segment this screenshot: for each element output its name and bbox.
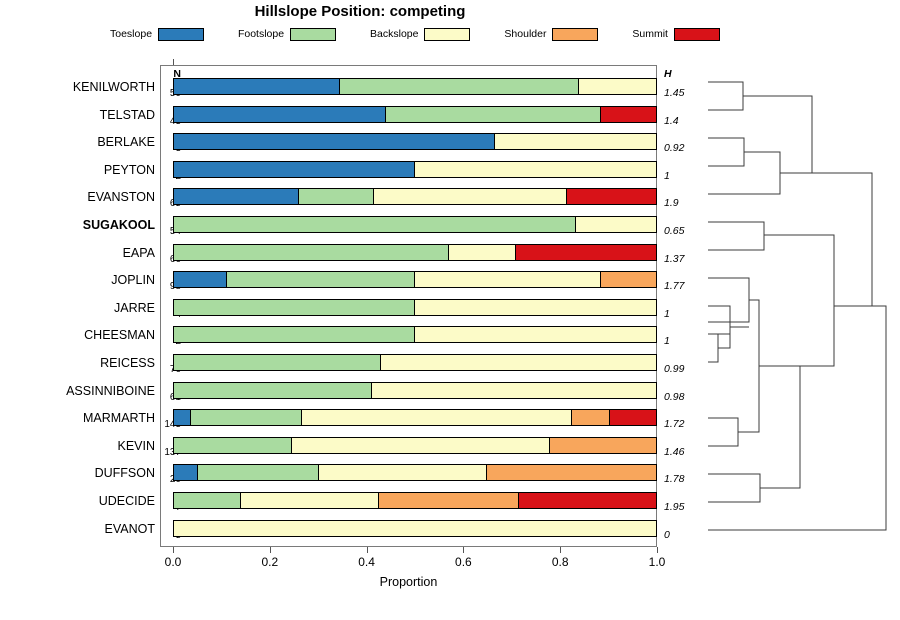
bar-segment-backslope[interactable]: [495, 134, 656, 149]
bar-segment-toeslope[interactable]: [174, 189, 299, 204]
bar-segment-shoulder[interactable]: [572, 410, 611, 425]
x-axis-title: Proportion: [160, 575, 657, 589]
legend-label: Shoulder: [504, 28, 546, 40]
y-axis-label: ASSINNIBOINE: [0, 385, 155, 398]
stacked-bar[interactable]: [173, 437, 657, 454]
y-axis-label: DUFFSON: [0, 467, 155, 480]
bar-segment-backslope[interactable]: [241, 493, 378, 508]
y-axis-label: JOPLIN: [0, 274, 155, 287]
bar-segment-footslope[interactable]: [174, 383, 372, 398]
x-axis-tick: [270, 547, 271, 553]
legend-label: Footslope: [238, 28, 284, 40]
stacked-bar[interactable]: [173, 326, 657, 343]
legend-label: Toeslope: [110, 28, 152, 40]
bar-segment-backslope[interactable]: [292, 438, 550, 453]
y-axis-label: BERLAKE: [0, 136, 155, 149]
stacked-bar[interactable]: [173, 106, 657, 123]
h-column-header: H: [664, 68, 672, 80]
legend-label: Backslope: [370, 28, 418, 40]
bar-segment-footslope[interactable]: [174, 438, 292, 453]
bar-segment-toeslope[interactable]: [174, 272, 227, 287]
bar-segment-backslope[interactable]: [302, 410, 572, 425]
legend-item-footslope: Footslope: [238, 28, 336, 41]
legend-item-toeslope: Toeslope: [110, 28, 204, 41]
y-axis-label: EVANSTON: [0, 191, 155, 204]
bar-segment-backslope[interactable]: [372, 383, 656, 398]
stacked-bar[interactable]: [173, 382, 657, 399]
dendrogram: [700, 60, 895, 555]
y-axis-label: SUGAKOOL: [0, 219, 155, 232]
chart-title: Hillslope Position: competing: [0, 3, 720, 20]
stacked-bar[interactable]: [173, 216, 657, 233]
x-axis-tick: [657, 547, 658, 553]
bar-segment-toeslope[interactable]: [174, 410, 191, 425]
bar-segment-backslope[interactable]: [415, 300, 656, 315]
legend-item-shoulder: Shoulder: [504, 28, 598, 41]
legend-item-summit: Summit: [632, 28, 720, 41]
stacked-bar[interactable]: [173, 244, 657, 261]
legend-swatch-shoulder: [552, 28, 598, 41]
bar-segment-backslope[interactable]: [381, 355, 656, 370]
y-axis-label: TELSTAD: [0, 109, 155, 122]
bar-segment-backslope[interactable]: [174, 521, 656, 536]
y-axis-label: JARRE: [0, 302, 155, 315]
bar-segment-backslope[interactable]: [449, 245, 516, 260]
bar-segment-backslope[interactable]: [374, 189, 567, 204]
y-axis-label: KEVIN: [0, 440, 155, 453]
bar-segment-backslope[interactable]: [576, 217, 656, 232]
stacked-bar[interactable]: [173, 188, 657, 205]
bar-segment-summit[interactable]: [516, 245, 656, 260]
bar-segment-backslope[interactable]: [415, 327, 656, 342]
x-axis-tick-label: 0.2: [250, 555, 290, 569]
bar-segment-toeslope[interactable]: [174, 465, 198, 480]
stacked-bar[interactable]: [173, 409, 657, 426]
bar-segment-footslope[interactable]: [340, 79, 579, 94]
legend-item-backslope: Backslope: [370, 28, 470, 41]
bar-segment-toeslope[interactable]: [174, 79, 340, 94]
bar-segment-shoulder[interactable]: [601, 272, 656, 287]
stacked-bar[interactable]: [173, 299, 657, 316]
x-axis-tick-label: 1.0: [637, 555, 677, 569]
bar-segment-shoulder[interactable]: [487, 465, 656, 480]
y-axis-label: PEYTON: [0, 164, 155, 177]
bar-segment-footslope[interactable]: [198, 465, 319, 480]
bar-segment-footslope[interactable]: [174, 245, 449, 260]
x-axis-tick: [463, 547, 464, 553]
bar-segment-footslope[interactable]: [227, 272, 415, 287]
bar-segment-footslope[interactable]: [174, 327, 415, 342]
bar-segment-toeslope[interactable]: [174, 107, 386, 122]
bar-segment-toeslope[interactable]: [174, 162, 415, 177]
legend-swatch-toeslope: [158, 28, 204, 41]
legend: Toeslope Footslope Backslope Shoulder Su…: [110, 26, 720, 42]
stacked-bar[interactable]: [173, 78, 657, 95]
bar-segment-toeslope[interactable]: [174, 134, 495, 149]
x-axis-tick-label: 0.0: [153, 555, 193, 569]
legend-swatch-backslope: [424, 28, 470, 41]
bar-segment-backslope[interactable]: [415, 272, 601, 287]
legend-swatch-footslope: [290, 28, 336, 41]
bar-segment-footslope[interactable]: [191, 410, 302, 425]
stacked-bar[interactable]: [173, 354, 657, 371]
stacked-bar[interactable]: [173, 271, 657, 288]
legend-label: Summit: [632, 28, 668, 40]
bar-segment-footslope[interactable]: [299, 189, 374, 204]
chart-root: Hillslope Position: competing Toeslope F…: [0, 0, 900, 620]
y-axis-label: EVANOT: [0, 523, 155, 536]
x-axis-tick-label: 0.8: [540, 555, 580, 569]
y-axis-label: UDECIDE: [0, 495, 155, 508]
stacked-bar[interactable]: [173, 161, 657, 178]
panel-top-tick: [173, 59, 174, 65]
dendrogram-svg: [700, 60, 895, 555]
stacked-bar[interactable]: [173, 133, 657, 150]
bar-segment-footslope[interactable]: [174, 217, 576, 232]
bar-segment-summit[interactable]: [610, 410, 656, 425]
bar-segment-shoulder[interactable]: [550, 438, 656, 453]
x-axis-tick: [173, 547, 174, 553]
x-axis-tick-label: 0.6: [443, 555, 483, 569]
y-axis-label: MARMARTH: [0, 412, 155, 425]
bar-segment-backslope[interactable]: [579, 79, 656, 94]
legend-swatch-summit: [674, 28, 720, 41]
stacked-bar[interactable]: [173, 520, 657, 537]
y-axis-label: EAPA: [0, 247, 155, 260]
x-axis-tick: [560, 547, 561, 553]
stacked-bar[interactable]: [173, 492, 657, 509]
bar-segment-summit[interactable]: [567, 189, 656, 204]
stacked-bar[interactable]: [173, 464, 657, 481]
bar-segment-footslope[interactable]: [174, 355, 381, 370]
bar-segment-footslope[interactable]: [174, 300, 415, 315]
x-axis-tick: [367, 547, 368, 553]
bar-segment-summit[interactable]: [601, 107, 656, 122]
bar-segment-summit[interactable]: [519, 493, 656, 508]
bar-segment-shoulder[interactable]: [379, 493, 519, 508]
bar-segment-backslope[interactable]: [319, 465, 488, 480]
bar-segment-footslope[interactable]: [386, 107, 600, 122]
bar-segment-footslope[interactable]: [174, 493, 241, 508]
bar-segment-backslope[interactable]: [415, 162, 656, 177]
y-axis-label: CHEESMAN: [0, 329, 155, 342]
x-axis-tick-label: 0.4: [347, 555, 387, 569]
y-axis-label: KENILWORTH: [0, 81, 155, 94]
y-axis-label: REICESS: [0, 357, 155, 370]
